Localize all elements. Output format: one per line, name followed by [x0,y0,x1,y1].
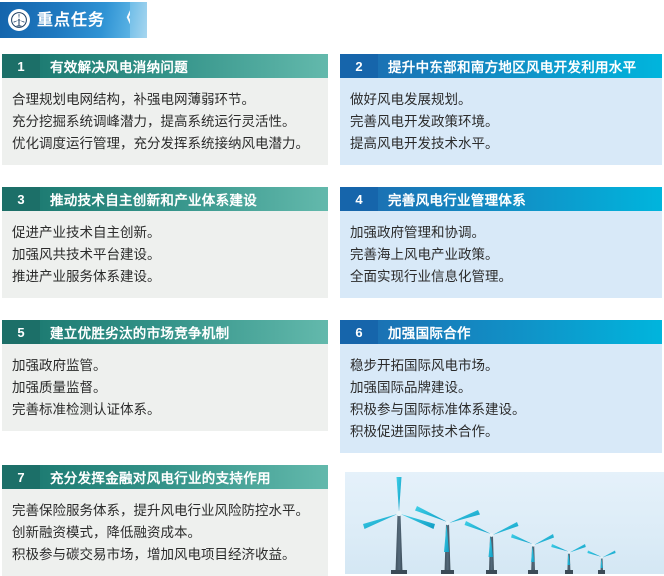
card-line: 推进产业服务体系建设。 [12,266,318,288]
card-title: 推动技术自主创新和产业体系建设 [40,187,328,211]
card-body: 完善保险服务体系，提升风电行业风险防控水平。 创新融资模式，降低融资成本。 积极… [2,489,328,576]
wind-farm-illustration [345,472,664,574]
card-title: 有效解决风电消纳问题 [40,54,328,78]
task-card-2[interactable]: 2 提升中东部和南方地区风电开发利用水平 做好风电发展规划。 完善风电开发政策环… [340,54,662,165]
header-banner: 重点任务 《 [0,0,664,44]
task-card-1[interactable]: 1 有效解决风电消纳问题 合理规划电网结构，补强电网薄弱环节。 充分挖掘系统调峰… [2,54,328,165]
task-card-7[interactable]: 7 充分发挥金融对风电行业的支持作用 完善保险服务体系，提升风电行业风险防控水平… [2,465,328,576]
card-line: 提高风电开发技术水平。 [350,133,652,155]
task-card-3[interactable]: 3 推动技术自主创新和产业体系建设 促进产业技术自主创新。 加强风共技术平台建设… [2,187,328,298]
card-header: 4 完善风电行业管理体系 [340,187,662,211]
card-body: 做好风电发展规划。 完善风电开发政策环境。 提高风电开发技术水平。 [340,78,662,165]
card-body: 稳步开拓国际风电市场。 加强国际品牌建设。 积极参与国际标准体系建设。 积极促进… [340,344,662,453]
card-line: 加强风共技术平台建设。 [12,244,318,266]
banner-tail [130,2,147,38]
card-line: 积极参与碳交易市场，增加风电项目经济收益。 [12,544,318,566]
card-title: 充分发挥金融对风电行业的支持作用 [40,465,328,489]
card-number-badge: 7 [2,465,40,489]
turbine-4 [511,534,554,574]
card-number-badge: 2 [340,54,378,78]
card-line: 完善海上风电产业政策。 [350,244,652,266]
card-body: 合理规划电网结构，补强电网薄弱环节。 充分挖掘系统调峰潜力，提高系统运行灵活性。… [2,78,328,165]
turbine-5 [551,544,586,574]
card-line: 创新融资模式，降低融资成本。 [12,522,318,544]
card-line: 积极促进国际技术合作。 [350,421,652,443]
card-body: 加强政府监管。 加强质量监督。 完善标准检测认证体系。 [2,344,328,431]
card-line: 加强国际品牌建设。 [350,377,652,399]
card-line: 全面实现行业信息化管理。 [350,266,652,288]
card-line: 优化调度运行管理，充分发挥系统接纳风电潜力。 [12,133,318,155]
card-title: 提升中东部和南方地区风电开发利用水平 [378,54,662,78]
page-title: 重点任务 [37,12,105,28]
turbine-2 [415,506,480,574]
card-body: 促进产业技术自主创新。 加强风共技术平台建设。 推进产业服务体系建设。 [2,211,328,298]
card-number-badge: 1 [2,54,40,78]
card-line: 完善风电开发政策环境。 [350,111,652,133]
card-line: 完善标准检测认证体系。 [12,399,318,421]
card-title: 建立优胜劣汰的市场竞争机制 [40,320,328,344]
card-line: 加强政府监管。 [12,355,318,377]
task-card-6[interactable]: 6 加强国际合作 稳步开拓国际风电市场。 加强国际品牌建设。 积极参与国际标准体… [340,320,662,453]
card-header: 1 有效解决风电消纳问题 [2,54,328,78]
task-card-4[interactable]: 4 完善风电行业管理体系 加强政府管理和协调。 完善海上风电产业政策。 全面实现… [340,187,662,298]
card-line: 促进产业技术自主创新。 [12,222,318,244]
card-line: 合理规划电网结构，补强电网薄弱环节。 [12,89,318,111]
card-line: 加强质量监督。 [12,377,318,399]
card-line: 积极参与国际标准体系建设。 [350,399,652,421]
card-line: 稳步开拓国际风电市场。 [350,355,652,377]
wind-turbine-icon [8,9,30,31]
turbine-6 [587,551,615,575]
card-line: 完善保险服务体系，提升风电行业风险防控水平。 [12,500,318,522]
card-header: 3 推动技术自主创新和产业体系建设 [2,187,328,211]
card-line: 充分挖掘系统调峰潜力，提高系统运行灵活性。 [12,111,318,133]
card-header: 2 提升中东部和南方地区风电开发利用水平 [340,54,662,78]
card-number-badge: 3 [2,187,40,211]
card-title: 完善风电行业管理体系 [378,187,662,211]
card-title: 加强国际合作 [378,320,662,344]
card-number-badge: 6 [340,320,378,344]
card-header: 6 加强国际合作 [340,320,662,344]
card-line: 加强政府管理和协调。 [350,222,652,244]
card-body: 加强政府管理和协调。 完善海上风电产业政策。 全面实现行业信息化管理。 [340,211,662,298]
card-number-badge: 4 [340,187,378,211]
turbine-1 [363,477,435,574]
card-number-badge: 5 [2,320,40,344]
card-header: 5 建立优胜劣汰的市场竞争机制 [2,320,328,344]
task-card-5[interactable]: 5 建立优胜劣汰的市场竞争机制 加强政府监管。 加强质量监督。 完善标准检测认证… [2,320,328,431]
card-line: 做好风电发展规划。 [350,89,652,111]
card-header: 7 充分发挥金融对风电行业的支持作用 [2,465,328,489]
turbine-3 [465,521,519,574]
banner-ribbon: 重点任务 [0,2,130,38]
